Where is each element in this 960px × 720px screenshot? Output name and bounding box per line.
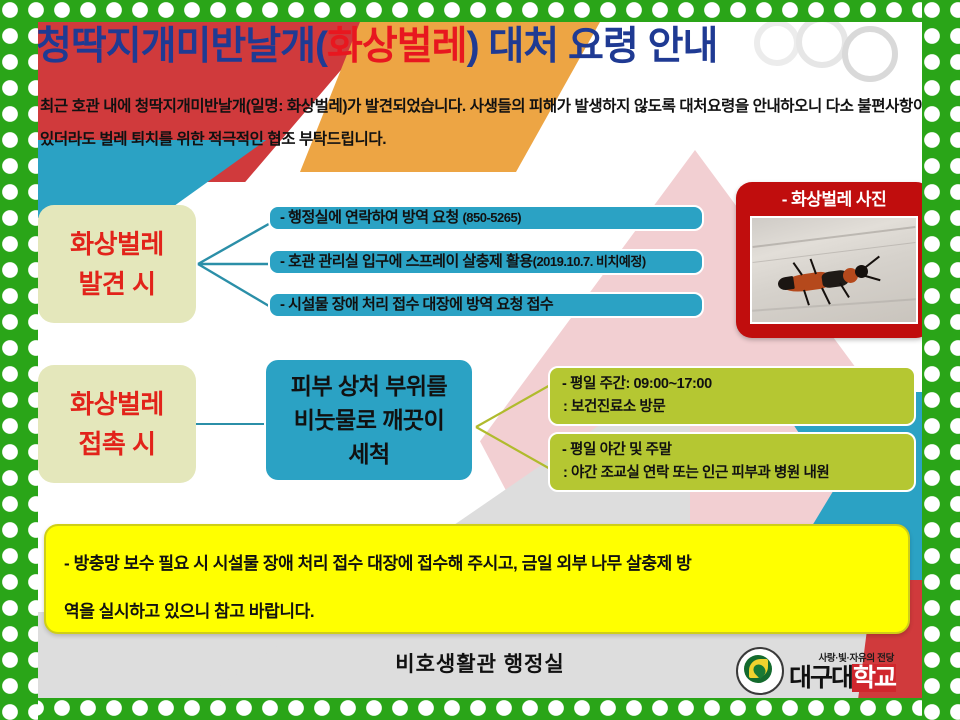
logo-name-black: 대구대 — [789, 664, 852, 692]
discovery-action-3-text: - 시설물 장애 처리 접수 대장에 방역 요청 접수 — [280, 296, 553, 313]
rove-beetle-illustration — [782, 260, 878, 302]
discovery-action-1-text: - 행정실에 연락하여 방역 요청 — [280, 209, 462, 226]
node-discovery-action-1: - 행정실에 연락하여 방역 요청 (850-5265) — [268, 205, 704, 231]
connector-contact-fan — [474, 378, 554, 476]
node-contact-option-2: - 평일 야간 및 주말 : 야간 조교실 연락 또는 인근 피부과 병원 내원 — [548, 432, 916, 492]
insect-photo-image — [750, 216, 918, 324]
node-contact-label-line2: 접촉 시 — [79, 424, 156, 464]
page-title: 청딱지개미반날개(화상벌레) 대처 요령 안내 — [36, 22, 916, 72]
logo-name-red: 학교 — [852, 664, 896, 692]
border-frame-top — [0, 0, 960, 22]
lead-paragraph: 최근 호관 내에 청딱지개미반날개(일명: 화상벌레)가 발견되었습니다. 사생… — [40, 90, 930, 156]
node-contact-option-1: - 평일 주간: 09:00~17:00 : 보건진료소 방문 — [548, 366, 916, 426]
treatment-line-2: 비눗물로 깨끗이 — [294, 403, 445, 437]
logo-name: 대구대학교 — [789, 664, 896, 692]
node-discovery-action-3: - 시설물 장애 처리 접수 대장에 방역 요청 접수 — [268, 292, 704, 318]
contact-option-1-line1: - 평일 주간: 09:00~17:00 — [562, 373, 712, 396]
notice-box: - 방충망 보수 필요 시 시설물 장애 처리 접수 대장에 접수해 주시고, … — [44, 524, 910, 634]
university-seal-icon — [736, 647, 784, 695]
poster-canvas: 청딱지개미반날개(화상벌레) 대처 요령 안내 최근 호관 내에 청딱지개미반날… — [0, 0, 960, 720]
border-frame-bottom — [0, 698, 960, 720]
page-title-prefix: 청딱지개미반날개( — [36, 25, 327, 68]
node-discovery-label: 화상벌레 발견 시 — [38, 205, 196, 323]
node-discovery-action-2: - 호관 관리실 입구에 스프레이 살충제 활용(2019.10.7. 비치예정… — [268, 249, 704, 275]
contact-option-1-line2: : 보건진료소 방문 — [562, 396, 665, 419]
notice-line-1: - 방충망 보수 필요 시 시설물 장애 처리 접수 대장에 접수해 주시고, … — [64, 540, 890, 588]
connector-contact-line — [196, 414, 266, 434]
node-contact-label-line1: 화상벌레 — [70, 384, 164, 424]
insect-photo-card: - 화상벌레 사진 — [736, 182, 932, 338]
discovery-action-2-text: - 호관 관리실 입구에 스프레이 살충제 활용 — [280, 253, 533, 270]
node-contact-label: 화상벌레 접촉 시 — [38, 365, 196, 483]
discovery-action-2-suffix: (2019.10.7. 비치예정) — [533, 254, 646, 269]
page-title-suffix: ) 대처 요령 안내 — [467, 25, 718, 68]
page-title-highlight: 화상벌레 — [327, 25, 467, 68]
treatment-line-3: 세척 — [348, 437, 389, 471]
contact-option-2-line1: - 평일 야간 및 주말 — [562, 439, 672, 462]
border-frame-left — [0, 0, 38, 720]
notice-line-2: 역을 실시하고 있으니 참고 바랍니다. — [64, 588, 890, 636]
university-logo: 사랑·빛·자유의 전당 대구대학교 — [736, 640, 912, 702]
contact-option-2-line2: : 야간 조교실 연락 또는 인근 피부과 병원 내원 — [562, 462, 829, 485]
node-contact-treatment: 피부 상처 부위를 비눗물로 깨끗이 세척 — [264, 358, 474, 482]
node-discovery-label-line2: 발견 시 — [79, 264, 156, 304]
treatment-line-1: 피부 상처 부위를 — [291, 369, 447, 403]
connector-discovery-fan — [196, 205, 276, 323]
footer-department: 비호생활관 행정실 — [300, 648, 660, 678]
logo-tagline: 사랑·빛·자유의 전당 — [789, 650, 896, 664]
node-discovery-label-line1: 화상벌레 — [70, 224, 164, 264]
discovery-action-1-suffix: (850-5265) — [462, 210, 521, 225]
insect-photo-caption: - 화상벌레 사진 — [782, 184, 886, 216]
border-frame-right — [922, 0, 960, 720]
